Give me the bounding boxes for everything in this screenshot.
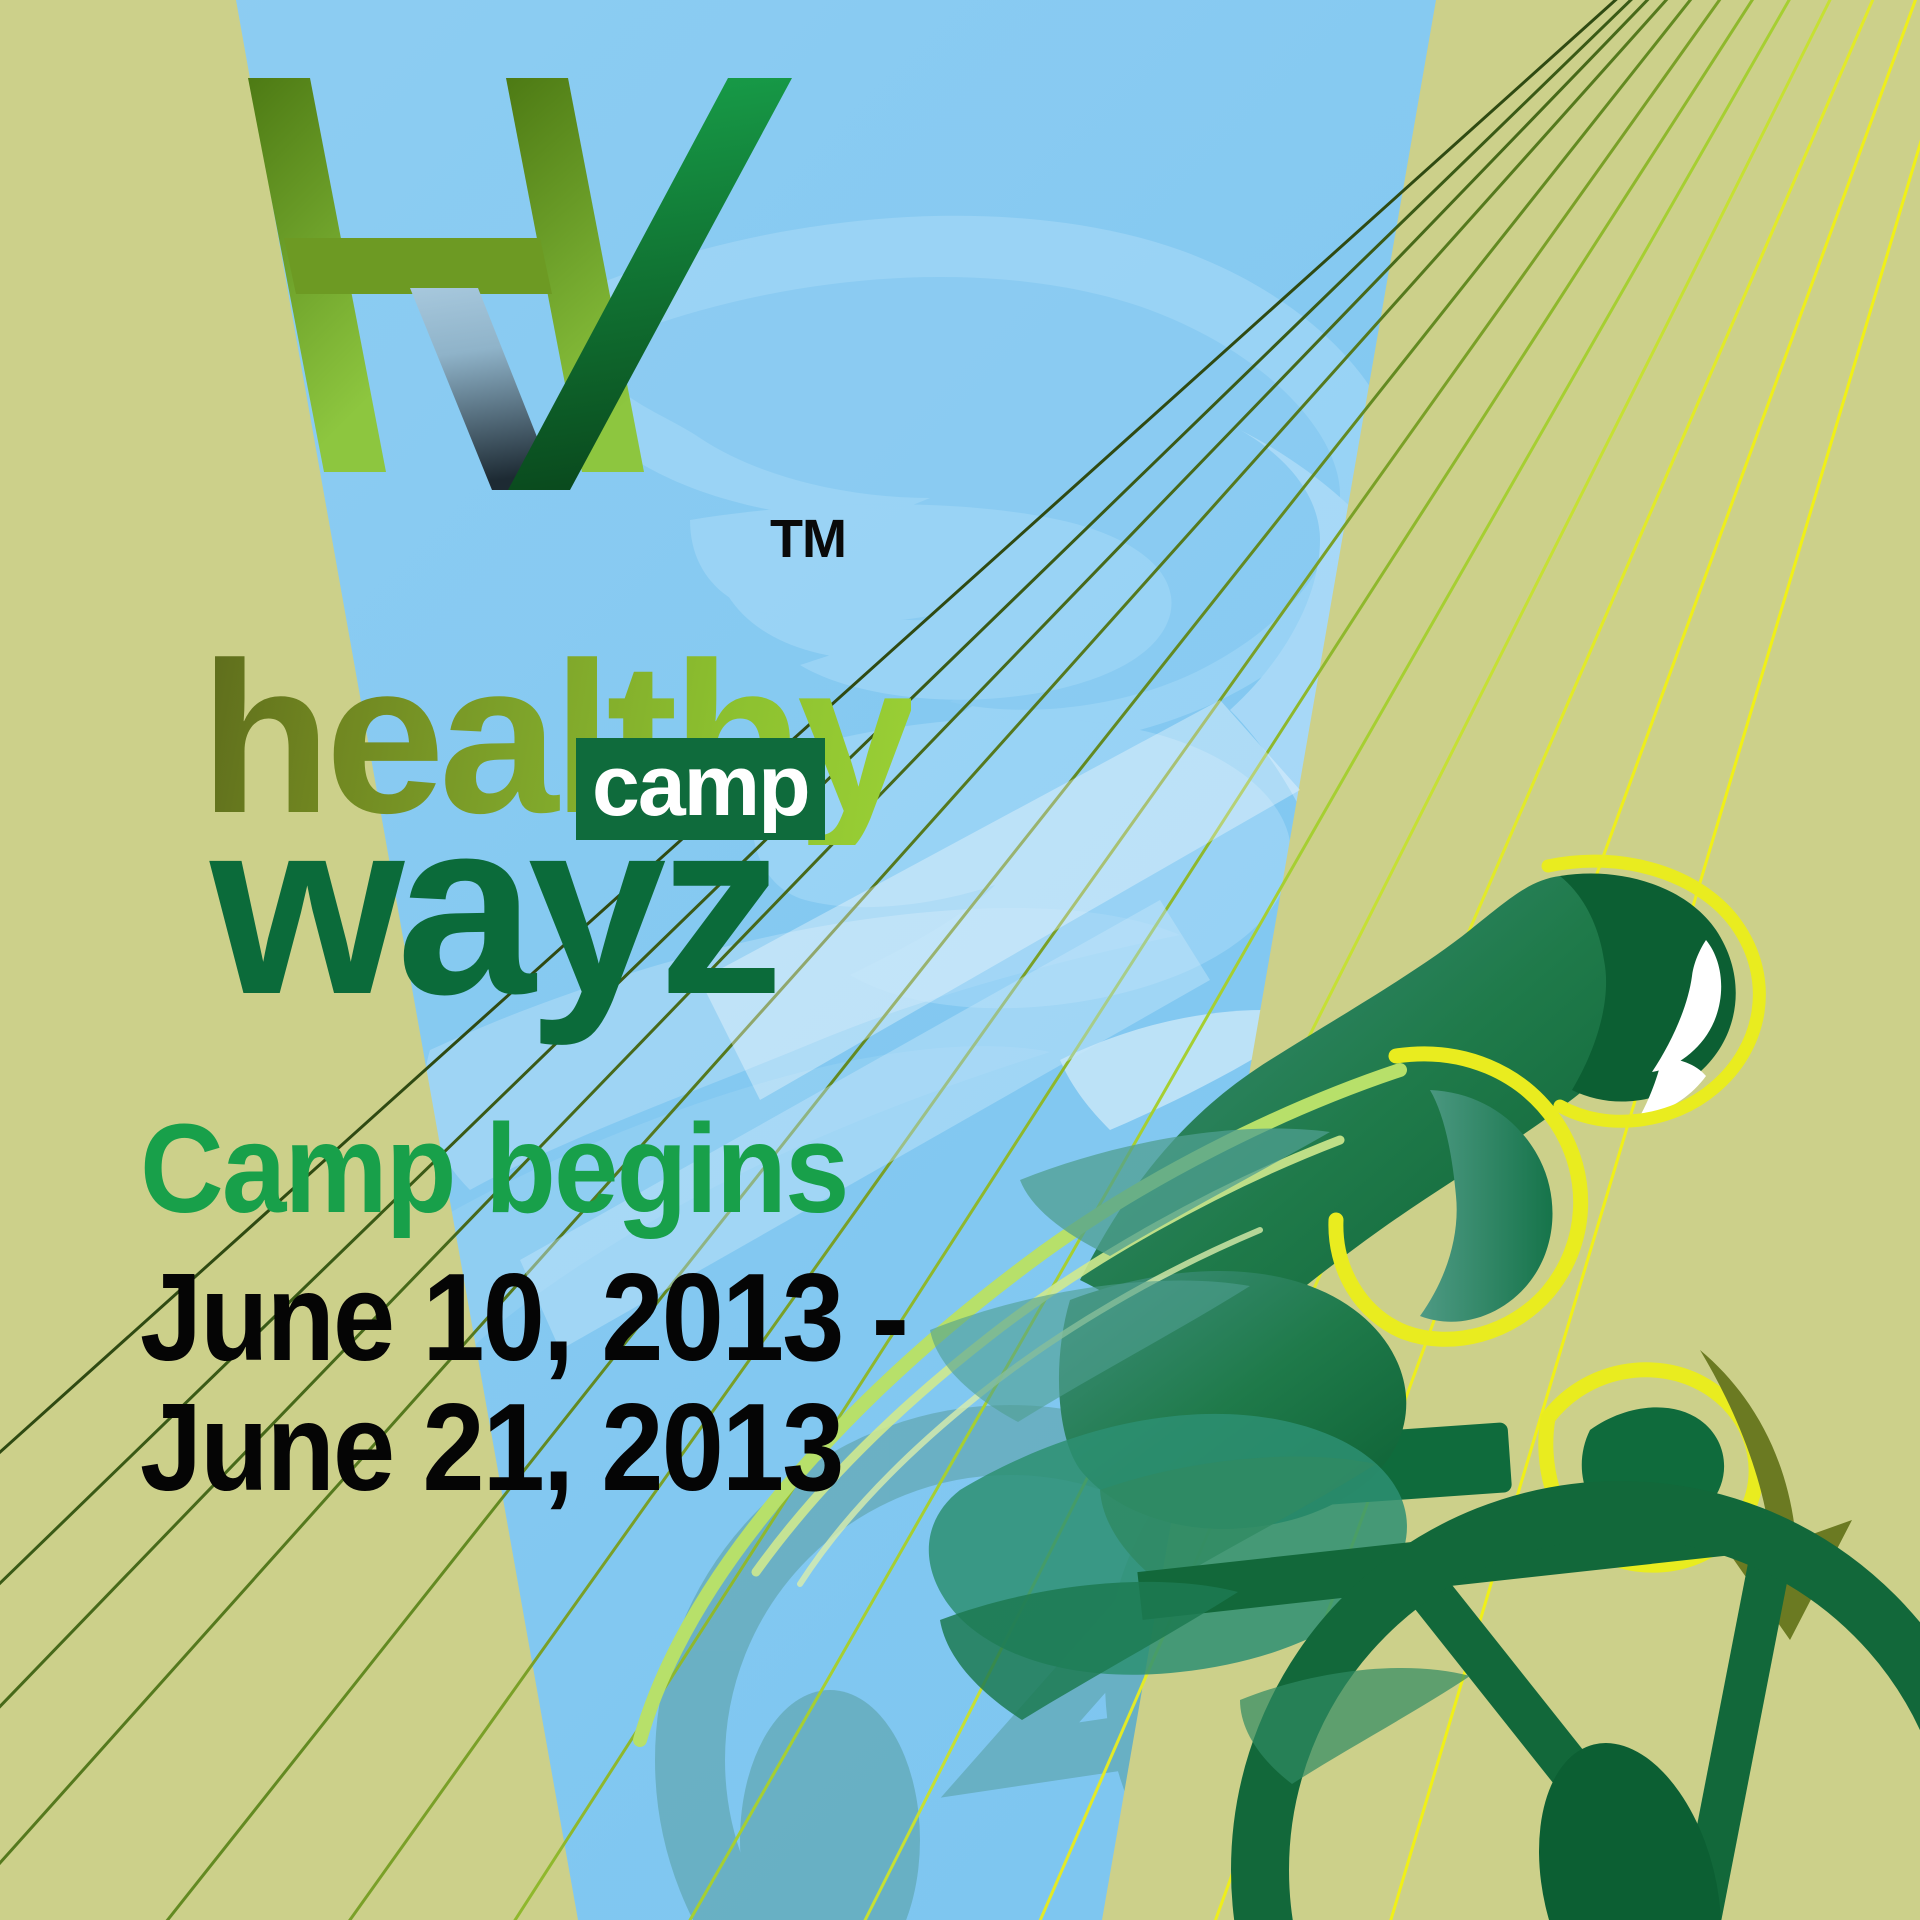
camp-end-date: June 21, 2013 <box>140 1384 1022 1513</box>
cyclist-illustration <box>0 0 1920 1920</box>
accent-leaf-2 <box>1240 1668 1470 1784</box>
camp-begins-heading: Camp begins <box>140 1105 1042 1234</box>
announcement-block: Camp begins June 10, 2013 - June 21, 201… <box>140 1105 1120 1513</box>
camp-start-date: June 10, 2013 - <box>140 1254 1022 1383</box>
poster-canvas: TM healthy wayz camp Camp begins June 10… <box>0 0 1920 1920</box>
